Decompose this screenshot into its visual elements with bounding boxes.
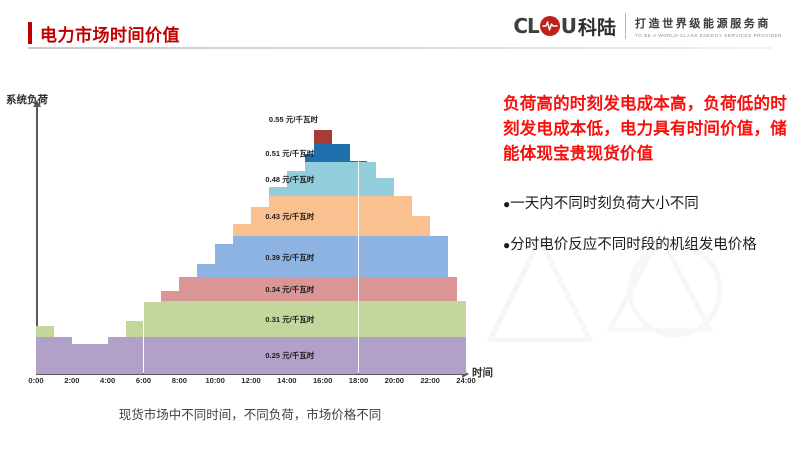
band-price-label: 0.34 元/千瓦时	[265, 284, 314, 295]
chart-band-segment	[251, 301, 260, 337]
chart-band-segment	[99, 344, 108, 374]
chart-band-segment	[179, 301, 188, 337]
chart-band-segment	[332, 144, 341, 162]
chart-band-segment	[233, 224, 242, 236]
chart-band-segment	[403, 301, 412, 337]
chart-band-segment	[215, 277, 224, 301]
chart-band-segment	[350, 277, 359, 301]
header-divider	[28, 47, 772, 49]
chart-band-segment	[350, 196, 359, 237]
load-price-chart: 系统负荷 时间 0.25 元/千瓦时0.31 元/千瓦时0.34 元/千瓦时0.…	[0, 92, 500, 392]
chart-band-segment	[323, 301, 332, 337]
bullet-dot-icon: ●	[503, 194, 510, 215]
chart-band-segment	[323, 337, 332, 374]
chart-band-segment	[457, 301, 466, 337]
chart-band-segment	[36, 326, 45, 337]
chart-band-segment	[421, 216, 430, 236]
chart-band-segment	[403, 277, 412, 301]
chart-band-segment	[278, 187, 287, 195]
chart-band-segment	[394, 196, 403, 237]
chart-band-segment	[332, 236, 341, 277]
chart-band-segment	[385, 178, 394, 196]
chart-band-segment	[376, 301, 385, 337]
chart-band-segment	[385, 196, 394, 237]
chart-band-segment	[323, 144, 332, 162]
page-title: 电力市场时间价值	[40, 21, 180, 46]
chart-band-segment	[170, 301, 179, 337]
chart-band-segment	[197, 277, 206, 301]
chart-band-segment	[359, 196, 368, 237]
chart-band-segment	[367, 277, 376, 301]
chart-band-segment	[359, 162, 368, 196]
title-accent-bar	[28, 22, 32, 44]
chart-band-segment	[403, 236, 412, 277]
chart-caption: 现货市场中不同时间，不同负荷，市场价格不同	[0, 404, 500, 423]
chart-band-segment	[81, 344, 90, 374]
chart-band-segment	[251, 277, 260, 301]
band-price-label: 0.43 元/千瓦时	[265, 211, 314, 222]
chart-band-segment	[251, 236, 260, 277]
chart-band-segment	[233, 277, 242, 301]
chart-band-segment	[63, 337, 72, 374]
chart-band-segment	[314, 337, 323, 374]
chart-band-segment	[314, 277, 323, 301]
chart-band-segment	[341, 301, 350, 337]
band-price-label: 0.51 元/千瓦时	[265, 148, 314, 159]
band-price-label: 0.25 元/千瓦时	[265, 350, 314, 361]
chart-band-segment	[126, 337, 135, 374]
chart-band-segment	[376, 196, 385, 237]
band-price-label: 0.39 元/千瓦时	[265, 252, 314, 263]
chart-band-segment	[215, 301, 224, 337]
bullet-text: 分时电价反应不同时段的机组发电价格	[510, 235, 793, 256]
x-axis-tick-label: 12:00	[241, 376, 260, 385]
chart-band-segment	[332, 196, 341, 237]
chart-band-segment	[341, 162, 350, 196]
x-axis-tick-label: 22:00	[420, 376, 439, 385]
chart-band-segment	[421, 301, 430, 337]
chart-band-segment	[412, 301, 421, 337]
chart-band-segment	[224, 244, 233, 278]
logo-text-cn: 科陆	[578, 13, 616, 40]
company-logo: CL U 科陆 打造世界级能源服务商 TO BE A WORLD-CLASS E…	[513, 9, 782, 43]
band-price-label: 0.55 元/千瓦时	[269, 114, 318, 125]
chart-band-segment	[72, 344, 81, 374]
chart-band-segment	[412, 236, 421, 277]
chart-band-segment	[161, 291, 170, 301]
chart-band-segment	[412, 277, 421, 301]
panel-headline: 负荷高的时刻发电成本高，负荷低的时刻发电成本低，电力具有时间价值，储能体现宝贵现…	[503, 92, 793, 167]
bullet-item: ● 一天内不同时刻负荷大小不同	[503, 194, 793, 215]
chart-band-segment	[439, 277, 448, 301]
chart-band-segment	[188, 277, 197, 301]
x-axis-tick-label: 18:00	[349, 376, 368, 385]
chart-band-segment	[233, 236, 242, 277]
chart-band-segment	[197, 337, 206, 374]
chart-band-segment	[376, 236, 385, 277]
logo-divider	[625, 13, 626, 39]
chart-band-segment	[179, 277, 188, 301]
chart-plot-area: 0.25 元/千瓦时0.31 元/千瓦时0.34 元/千瓦时0.39 元/千瓦时…	[36, 106, 466, 374]
chart-band-segment	[242, 301, 251, 337]
chart-band-segment	[403, 337, 412, 374]
chart-band-segment	[385, 236, 394, 277]
chart-band-segment	[152, 302, 161, 337]
chart-band-segment	[439, 301, 448, 337]
chart-band-segment	[144, 302, 153, 337]
x-axis-tick-label: 4:00	[100, 376, 115, 385]
chart-band-segment	[251, 207, 260, 237]
chart-band-segment	[314, 236, 323, 277]
chart-band-segment	[323, 196, 332, 237]
chart-band-segment	[341, 144, 350, 162]
chart-band-segment	[341, 236, 350, 277]
chart-band-segment	[359, 337, 368, 374]
x-axis-tick-label: 20:00	[385, 376, 404, 385]
chart-band-segment	[359, 277, 368, 301]
chart-band-segment	[233, 337, 242, 374]
chart-band-segment	[170, 337, 179, 374]
chart-band-segment	[332, 277, 341, 301]
chart-band-segment	[179, 337, 188, 374]
chart-band-segment	[394, 301, 403, 337]
x-axis-tick-label: 10:00	[205, 376, 224, 385]
chart-band-segment	[394, 236, 403, 277]
chart-band-segment	[376, 277, 385, 301]
x-axis-tick-label: 24:00	[456, 376, 475, 385]
chart-band-segment	[359, 301, 368, 337]
chart-band-segment	[412, 337, 421, 374]
chart-band-segment	[323, 162, 332, 196]
x-axis-tick-label: 6:00	[136, 376, 151, 385]
bullet-dot-icon: ●	[503, 235, 510, 256]
chart-band-segment	[242, 277, 251, 301]
chart-band-segment	[430, 277, 439, 301]
band-price-label: 0.48 元/千瓦时	[265, 174, 314, 185]
chart-band-segment	[314, 144, 323, 162]
logo-slogan: 打造世界级能源服务商 TO BE A WORLD-CLASS ENERGY SE…	[635, 15, 782, 38]
x-axis-tick-label: 8:00	[172, 376, 187, 385]
chart-band-segment	[314, 301, 323, 337]
chart-band-segment	[224, 337, 233, 374]
chart-band-segment	[367, 337, 376, 374]
chart-band-segment	[332, 301, 341, 337]
band-price-label: 0.31 元/千瓦时	[265, 314, 314, 325]
chart-band-segment	[215, 244, 224, 278]
chart-band-segment	[323, 277, 332, 301]
chart-band-segment	[350, 337, 359, 374]
chart-band-segment	[161, 337, 170, 374]
chart-band-segment	[403, 196, 412, 237]
chart-band-segment	[251, 337, 260, 374]
y-axis-label: 系统负荷	[6, 92, 48, 107]
pulse-heartbeat-icon	[540, 16, 560, 36]
chart-band-segment	[385, 277, 394, 301]
chart-band-segment	[421, 337, 430, 374]
chart-band-segment	[367, 162, 376, 196]
chart-band-segment	[242, 337, 251, 374]
chart-band-segment	[385, 301, 394, 337]
chart-band-segment	[439, 236, 448, 277]
slide-header: 电力市场时间价值 CL U 科陆 打造世界级能源服务商 TO BE A WORL…	[0, 0, 800, 58]
chart-band-segment	[359, 236, 368, 277]
chart-band-segment	[439, 337, 448, 374]
chart-band-segment	[314, 130, 323, 144]
chart-band-segment	[188, 337, 197, 374]
chart-band-segment	[215, 337, 224, 374]
chart-band-segment	[367, 236, 376, 277]
chart-band-segment	[188, 301, 197, 337]
chart-band-segment	[206, 277, 215, 301]
chart-band-segment	[135, 337, 144, 374]
chart-band-segment	[412, 216, 421, 236]
x-axis-tick-label: 0:00	[28, 376, 43, 385]
chart-band-segment	[359, 161, 368, 162]
chart-band-segment	[421, 277, 430, 301]
chart-band-segment	[224, 301, 233, 337]
chart-band-segment	[197, 264, 206, 277]
bullet-item: ● 分时电价反应不同时段的机组发电价格	[503, 235, 793, 256]
chart-band-segment	[45, 337, 54, 374]
logo-text-right: U	[561, 14, 576, 38]
chart-band-segment	[323, 236, 332, 277]
chart-band-segment	[385, 337, 394, 374]
chart-band-segment	[367, 301, 376, 337]
chart-band-segment	[367, 196, 376, 237]
chart-band-segment	[421, 236, 430, 277]
chart-band-segment	[350, 236, 359, 277]
chart-band-segment	[448, 337, 457, 374]
chart-band-segment	[242, 224, 251, 236]
chart-band-segment	[126, 321, 135, 337]
chart-band-segment	[376, 337, 385, 374]
chart-band-segment	[350, 301, 359, 337]
chart-band-segment	[448, 301, 457, 337]
chart-band-segment	[332, 162, 341, 196]
chart-band-segment	[314, 162, 323, 196]
chart-band-segment	[394, 277, 403, 301]
chart-band-segment	[108, 337, 117, 374]
chart-band-segment	[376, 178, 385, 196]
x-axis-tick-label: 14:00	[277, 376, 296, 385]
chart-band-segment	[350, 161, 359, 162]
chart-band-segment	[448, 277, 457, 301]
logo-slogan-en: TO BE A WORLD-CLASS ENERGY SERVICES PROV…	[635, 33, 782, 38]
chart-band-segment	[197, 301, 206, 337]
chart-band-segment	[323, 130, 332, 144]
chart-band-segment	[233, 301, 242, 337]
chart-band-segment	[45, 326, 54, 337]
chart-band-segment	[135, 321, 144, 337]
chart-band-segment	[341, 337, 350, 374]
chart-band-segment	[269, 187, 278, 195]
logo-text-left: CL	[513, 14, 538, 38]
chart-band-segment	[117, 337, 126, 374]
bullet-text: 一天内不同时刻负荷大小不同	[510, 194, 793, 215]
x-axis-tick-label: 2:00	[64, 376, 79, 385]
chart-band-segment	[206, 337, 215, 374]
logo-mark: CL U 科陆	[513, 14, 616, 38]
chart-band-segment	[144, 337, 153, 374]
chart-band-segment	[206, 301, 215, 337]
chart-band-segment	[242, 236, 251, 277]
chart-band-segment	[341, 196, 350, 237]
chart-band-segment	[54, 337, 63, 374]
chart-band-segment	[341, 277, 350, 301]
chart-band-segment	[332, 337, 341, 374]
chart-band-segment	[430, 301, 439, 337]
chart-band-segment	[430, 236, 439, 277]
chart-band-segment	[350, 162, 359, 196]
chart-band-segment	[206, 264, 215, 277]
chart-band-segment	[394, 337, 403, 374]
chart-band-segment	[314, 196, 323, 237]
explanation-panel: 负荷高的时刻发电成本高，负荷低的时刻发电成本低，电力具有时间价值，储能体现宝贵现…	[503, 92, 793, 256]
chart-band-segment	[170, 291, 179, 301]
logo-slogan-cn: 打造世界级能源服务商	[635, 15, 782, 31]
chart-band-segment	[457, 337, 466, 374]
chart-band-segment	[36, 337, 45, 374]
chart-band-segment	[90, 344, 99, 374]
x-axis-tick-label: 16:00	[313, 376, 332, 385]
chart-band-segment	[224, 277, 233, 301]
chart-band-segment	[152, 337, 161, 374]
chart-band-segment	[430, 337, 439, 374]
chart-band-segment	[161, 301, 170, 337]
